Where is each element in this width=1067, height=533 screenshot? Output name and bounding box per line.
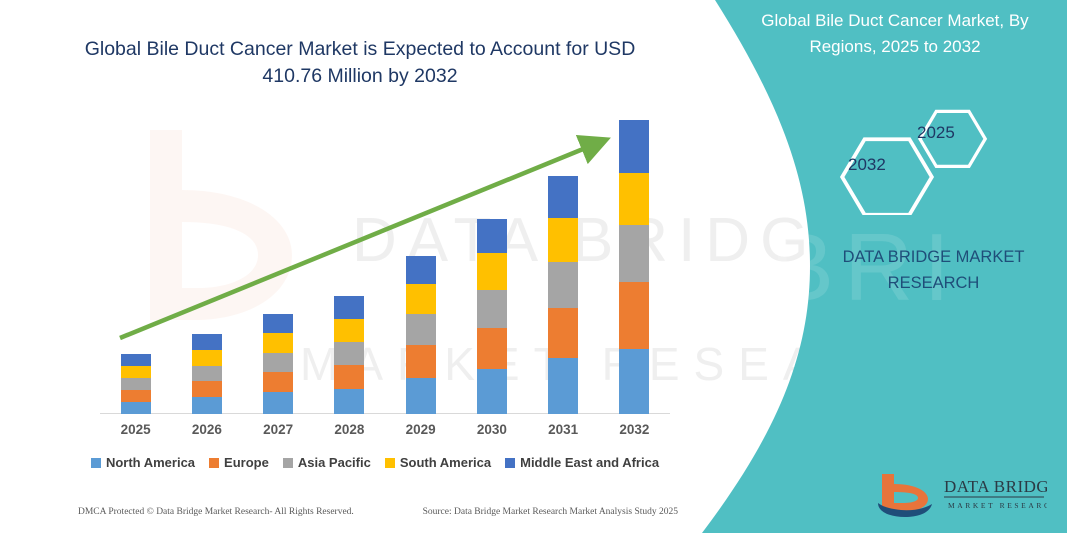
bar-2029: [406, 256, 436, 414]
x-axis-labels: 20252026202720282029203020312032: [100, 422, 670, 446]
legend-label: North America: [106, 455, 195, 470]
legend-item-middle-east-and-africa[interactable]: Middle East and Africa: [505, 455, 659, 470]
bar-segment-asia-pacific: [334, 342, 364, 365]
legend-label: South America: [400, 455, 491, 470]
bar-segment-north-america: [263, 392, 293, 414]
legend-item-south-america[interactable]: South America: [385, 455, 491, 470]
chart-plot-area: [100, 120, 670, 414]
legend-label: Middle East and Africa: [520, 455, 659, 470]
bar-segment-north-america: [334, 389, 364, 414]
hexagon-2025-label: 2025: [917, 123, 955, 143]
bar-chart: 20252026202720282029203020312032: [0, 0, 690, 490]
bar-segment-north-america: [406, 378, 436, 414]
footer: DMCA Protected © Data Bridge Market Rese…: [78, 507, 678, 517]
x-axis-tick-2028: 2028: [313, 422, 385, 437]
bar-segment-south-america: [121, 366, 151, 378]
bar-segment-middle-east-and-africa: [619, 120, 649, 173]
infographic-canvas: DATA BRIDGE MARKET RESEARCH Global Bile …: [0, 0, 1067, 533]
logo-name-text: DATA BRIDGE: [944, 477, 1047, 496]
bar-2030: [477, 219, 507, 414]
bar-segment-north-america: [619, 349, 649, 414]
legend-swatch-icon: [385, 458, 395, 468]
legend-swatch-icon: [91, 458, 101, 468]
data-bridge-logo: DATA BRIDGE MARKET RESEARCH: [872, 470, 1047, 522]
bar-2027: [263, 314, 293, 414]
bar-segment-asia-pacific: [619, 225, 649, 282]
bar-segment-south-america: [263, 333, 293, 353]
legend-item-asia-pacific[interactable]: Asia Pacific: [283, 455, 371, 470]
legend-swatch-icon: [209, 458, 219, 468]
bar-segment-europe: [263, 372, 293, 392]
footer-source-text: Source: Data Bridge Market Research Mark…: [423, 507, 678, 517]
bar-segment-south-america: [477, 253, 507, 290]
x-axis-tick-2025: 2025: [100, 422, 172, 437]
bar-segment-europe: [334, 365, 364, 389]
legend-label: Asia Pacific: [298, 455, 371, 470]
bar-segment-europe: [548, 308, 578, 358]
bar-segment-europe: [192, 381, 222, 397]
x-axis-tick-2026: 2026: [171, 422, 243, 437]
x-axis-tick-2032: 2032: [598, 422, 670, 437]
hexagon-2032-label: 2032: [848, 155, 886, 175]
bar-segment-middle-east-and-africa: [406, 256, 436, 284]
bar-segment-south-america: [619, 173, 649, 225]
legend-swatch-icon: [283, 458, 293, 468]
hexagon-2032-shape: [842, 139, 932, 215]
legend-swatch-icon: [505, 458, 515, 468]
bar-segment-asia-pacific: [121, 378, 151, 390]
bar-segment-south-america: [334, 319, 364, 342]
bar-segment-asia-pacific: [406, 314, 436, 345]
bar-segment-south-america: [406, 284, 436, 314]
legend-label: Europe: [224, 455, 269, 470]
legend-item-north-america[interactable]: North America: [91, 455, 195, 470]
x-axis-tick-2029: 2029: [385, 422, 457, 437]
x-axis-tick-2030: 2030: [456, 422, 528, 437]
bar-2032: [619, 120, 649, 414]
footer-dmca-text: DMCA Protected © Data Bridge Market Rese…: [78, 507, 354, 517]
bar-segment-europe: [121, 390, 151, 402]
chart-legend: North AmericaEuropeAsia PacificSouth Ame…: [60, 455, 690, 470]
bar-segment-asia-pacific: [192, 366, 222, 381]
bar-segment-europe: [619, 282, 649, 349]
bar-segment-europe: [477, 328, 507, 369]
bar-segment-north-america: [192, 397, 222, 414]
bar-2031: [548, 176, 578, 414]
bar-segment-middle-east-and-africa: [334, 296, 364, 319]
bar-2025: [121, 354, 151, 414]
bar-segment-middle-east-and-africa: [548, 176, 578, 218]
hexagon-years-graphic: 2025 2032: [820, 95, 1040, 215]
bar-2028: [334, 296, 364, 414]
bar-segment-europe: [406, 345, 436, 378]
x-axis-tick-2031: 2031: [527, 422, 599, 437]
bar-segment-middle-east-and-africa: [121, 354, 151, 366]
panel-brand-text: DATA BRIDGE MARKET RESEARCH: [800, 244, 1067, 296]
bar-segment-asia-pacific: [263, 353, 293, 372]
bar-segment-asia-pacific: [477, 290, 507, 328]
bar-segment-middle-east-and-africa: [263, 314, 293, 333]
bar-segment-south-america: [548, 218, 578, 262]
bar-segment-north-america: [477, 369, 507, 414]
bar-segment-asia-pacific: [548, 262, 578, 308]
logo-tagline-text: MARKET RESEARCH: [948, 501, 1047, 510]
bar-2026: [192, 334, 222, 414]
x-axis-tick-2027: 2027: [242, 422, 314, 437]
panel-title: Global Bile Duct Cancer Market, By Regio…: [740, 8, 1050, 60]
bar-segment-middle-east-and-africa: [192, 334, 222, 350]
bar-segment-north-america: [548, 358, 578, 414]
bar-segment-north-america: [121, 402, 151, 414]
bar-segment-south-america: [192, 350, 222, 366]
legend-item-europe[interactable]: Europe: [209, 455, 269, 470]
bar-segment-middle-east-and-africa: [477, 219, 507, 253]
